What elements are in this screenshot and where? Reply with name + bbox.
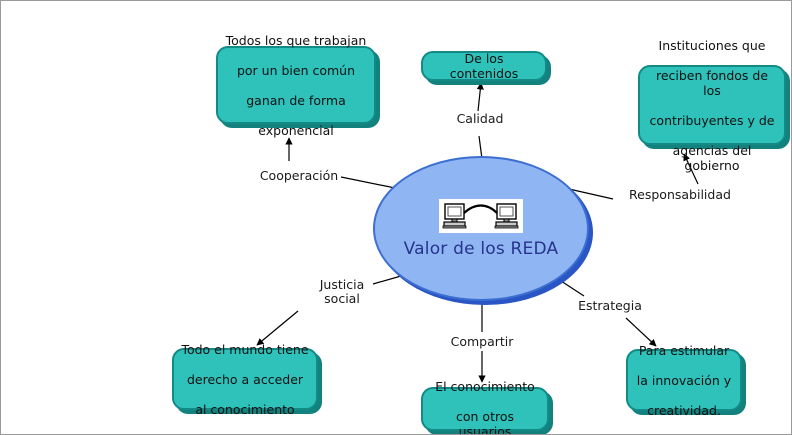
node-line: Todos los que trabajan [224, 33, 368, 48]
concept-map-canvas: Valor de los REDA Todos los que trabajan… [0, 0, 792, 435]
node-line: por un bien común [224, 63, 368, 78]
node-para-estimular[interactable]: Para estimular la innovación y creativid… [626, 349, 742, 411]
central-node[interactable]: Valor de los REDA [373, 156, 589, 301]
node-line: De los contenidos [429, 51, 539, 81]
node-el-conocimiento[interactable]: El conocimiento con otros usuarios [421, 387, 549, 431]
node-line: Todo el mundo tiene [180, 342, 310, 357]
node-de-los-contenidos[interactable]: De los contenidos [421, 51, 547, 81]
node-line: con otros usuarios [429, 409, 541, 435]
node-line: la innovación y [634, 373, 734, 388]
central-node-label: Valor de los REDA [404, 239, 559, 259]
node-line: Para estimular [634, 343, 734, 358]
node-line: derecho a acceder [180, 372, 310, 387]
node-todo-el-mundo[interactable]: Todo el mundo tiene derecho a acceder al… [172, 348, 318, 410]
networked-computers-icon [439, 199, 523, 233]
edge-label-compartir: Compartir [431, 335, 533, 349]
node-line: al conocimiento [180, 402, 310, 417]
edge-label-estrategia: Estrategia [562, 299, 658, 313]
node-line: ganan de forma [224, 93, 368, 108]
node-todos-los-que-trabajan[interactable]: Todos los que trabajan por un bien común… [216, 46, 376, 124]
node-line: agencias del gobierno [646, 143, 778, 173]
edge-label-responsabilidad: Responsabilidad [615, 188, 745, 202]
node-line: creatividad. [634, 403, 734, 418]
node-line: reciben fondos de los [646, 68, 778, 98]
node-line: El conocimiento [429, 379, 541, 394]
edge-label-calidad: Calidad [438, 112, 522, 126]
node-line: Instituciones que [646, 38, 778, 53]
node-line: contribuyentes y de [646, 113, 778, 128]
edge-label-cooperacion: Cooperación [244, 169, 354, 183]
edge-label-justicia-social: Justicia social [302, 278, 382, 306]
node-line: exponencial [224, 123, 368, 138]
node-instituciones[interactable]: Instituciones que reciben fondos de los … [638, 65, 786, 145]
